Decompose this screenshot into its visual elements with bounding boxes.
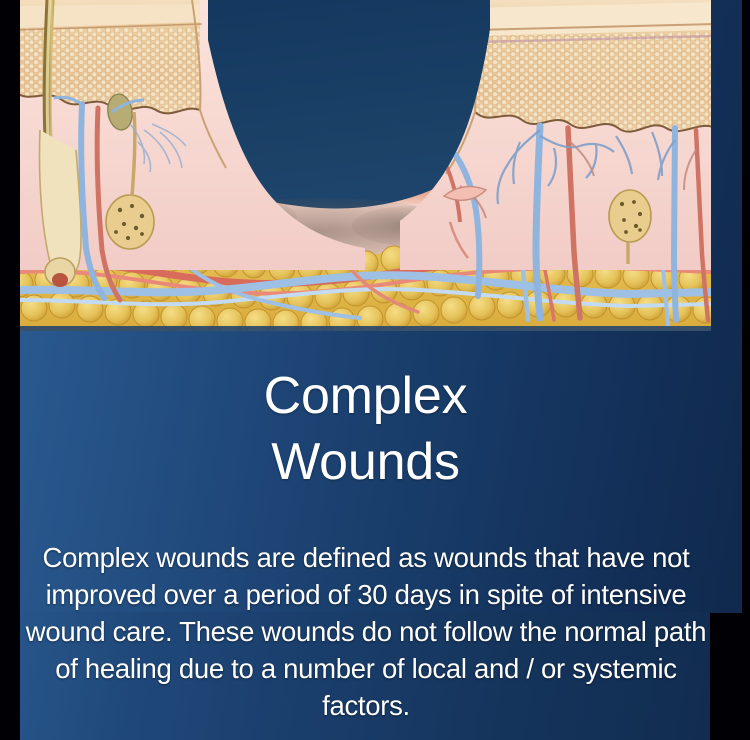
body-paragraph: Complex wounds are defined as wounds tha… [22,539,710,724]
page-title: Complex Wounds [20,363,711,495]
right-vein-lateral [674,128,676,320]
skin-wound-cross-section-illustration [20,0,711,331]
dermal-papilla [52,273,68,287]
illustration-bottom-edge [20,326,711,331]
slide-root: Complex Wounds Complex wounds are define… [0,0,750,740]
skin-cross-section-graphic [20,0,711,331]
title-line-2: Wounds [20,429,711,495]
right-vein-main [536,126,540,318]
title-line-1: Complex [20,363,711,429]
